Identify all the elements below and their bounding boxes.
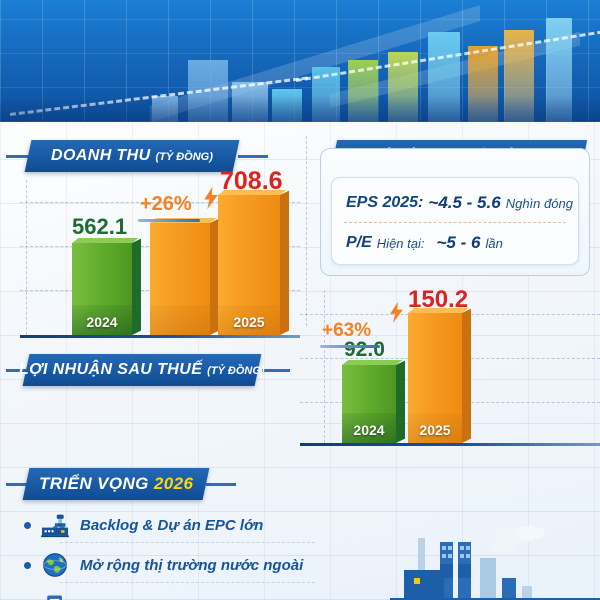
profit-bar-2024-year: 2024: [342, 422, 396, 438]
bar-side: [132, 239, 141, 335]
document-icon: [40, 592, 70, 600]
eps-unit: Nghìn đóng: [506, 196, 573, 211]
outlook-separator-0: [60, 542, 315, 543]
infographic-body: DOANH THU (TỶ ĐỒNG) 2024 562.1: [0, 122, 600, 600]
outlook-banner-tick-right: [206, 483, 236, 486]
bullet-icon: [24, 562, 31, 569]
revenue-bar-2025-year: 2025: [218, 314, 280, 330]
profit-banner: LỢI NHUẬN SAU THUẾ (TỶ ĐỒNG): [23, 354, 262, 386]
revenue-baseline: [20, 335, 300, 338]
profit-bar-2024: 2024: [342, 365, 396, 443]
profit-bar-2025: 2025: [408, 313, 462, 443]
revenue-banner-tick-right: [238, 155, 268, 158]
outlook-item-0[interactable]: Backlog & Dự án EPC lớn: [24, 510, 263, 540]
factory-skyline-illustration: [390, 520, 600, 600]
profit-value-2025: 150.2: [408, 286, 468, 314]
revenue-bar-2025: 2025: [218, 195, 280, 335]
revenue-banner-tick-left: [6, 155, 28, 158]
profit-growth-arrow-icon: [388, 301, 405, 324]
profit-chart: 2024 92.0 2025 +63% 150.2: [300, 290, 600, 446]
header-fade: [0, 96, 600, 122]
revenue-banner: DOANH THU (TỶ ĐỒNG): [25, 140, 240, 172]
profit-vdash: [324, 290, 325, 443]
revenue-chart: 2024 562.1 2025 +26% 708.6: [20, 180, 300, 338]
header-banner: [0, 0, 600, 122]
globe-icon: [40, 552, 70, 578]
bar-side: [462, 309, 471, 443]
outlook-banner-year: 2026: [154, 474, 193, 493]
profit-banner-text: LỢI NHUẬN SAU THUẾ (TỶ ĐỒNG): [19, 361, 265, 379]
valuation-row-pe: P/E Hiện tại: ~5 - 6 lần: [332, 226, 578, 260]
bullet-icon: [24, 522, 31, 529]
profit-baseline: [300, 443, 600, 446]
profit-growth-underline: [320, 345, 380, 348]
profit-growth-badge: +63%: [322, 320, 371, 342]
outlook-item-2-clipped[interactable]: [24, 590, 70, 600]
revenue-growth-badge: +26%: [140, 193, 192, 216]
revenue-value-2024: 562.1: [72, 214, 127, 240]
bar-side: [280, 191, 289, 335]
pe-unit: lần: [485, 236, 502, 251]
revenue-bar-2024: 2024: [72, 243, 132, 335]
revenue-growth-arrow-icon: [202, 186, 220, 210]
outlook-item-0-label: Backlog & Dự án EPC lớn: [80, 517, 263, 534]
profit-banner-tick-right: [262, 369, 290, 372]
outlook-banner: TRIỂN VỌNG 2026: [23, 468, 210, 500]
pe-value: ~5 - 6: [437, 233, 481, 253]
eps-value: ~4.5 - 5.6: [428, 193, 500, 213]
pe-label: P/E: [346, 234, 372, 252]
revenue-growth-underline: [138, 219, 200, 222]
factory-icon: [40, 512, 70, 538]
revenue-vdash: [26, 180, 27, 335]
outlook-banner-text: TRIỂN VỌNG 2026: [39, 474, 193, 494]
revenue-value-2025: 708.6: [220, 167, 283, 196]
bar-foot-shade: [150, 305, 210, 335]
revenue-banner-text: DOANH THU (TỶ ĐỒNG): [51, 147, 213, 165]
valuation-card-inner: EPS 2025: ~4.5 - 5.6 Nghìn đóng P/E Hiện…: [331, 177, 579, 265]
outlook-separator-1: [60, 582, 315, 583]
eps-label: EPS 2025:: [346, 194, 423, 212]
revenue-bar-2024-year: 2024: [72, 314, 132, 330]
profit-bar-2025-year: 2025: [408, 422, 462, 438]
revenue-bar-middle: [150, 223, 210, 335]
outlook-item-1-label: Mở rộng thị trường nước ngoài: [80, 557, 303, 574]
valuation-row-eps: EPS 2025: ~4.5 - 5.6 Nghìn đóng: [332, 186, 578, 220]
pe-sublabel: Hiện tại:: [377, 236, 425, 251]
outlook-item-1[interactable]: Mở rộng thị trường nước ngoài: [24, 550, 303, 580]
valuation-row-divider: [344, 222, 566, 223]
bar-side: [396, 361, 405, 443]
valuation-card: EPS 2025: ~4.5 - 5.6 Nghìn đóng P/E Hiện…: [320, 148, 590, 276]
